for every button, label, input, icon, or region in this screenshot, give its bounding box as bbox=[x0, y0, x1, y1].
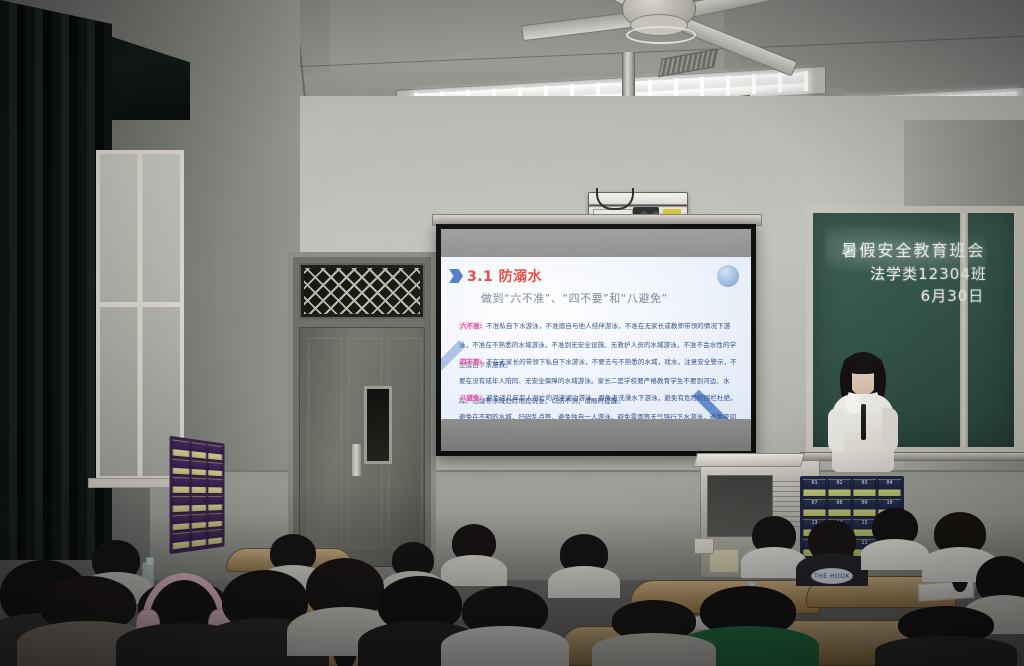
pocket-cell[interactable] bbox=[191, 478, 206, 494]
pocket-cell[interactable] bbox=[172, 532, 189, 550]
slide-subtitle: 做到“六不准”、“四不要”和“八避免” bbox=[481, 290, 668, 306]
slide-paragraph-tag: 八避免: bbox=[459, 394, 483, 402]
door-transom bbox=[299, 263, 425, 319]
slide-paragraph-tag: 六不准: bbox=[459, 322, 483, 330]
pocket-number: 10 bbox=[886, 500, 892, 508]
pocket-cell[interactable]: 04 bbox=[878, 479, 901, 497]
pocket-cell[interactable] bbox=[208, 496, 222, 511]
pocket-cell[interactable] bbox=[208, 529, 222, 546]
pocket-cell[interactable]: 08 bbox=[828, 499, 851, 517]
pocket-cell[interactable] bbox=[172, 477, 189, 494]
pocket-cell[interactable] bbox=[208, 479, 222, 494]
pocket-cell[interactable] bbox=[172, 514, 189, 532]
slide-paragraph-body: 避免近几年有人溺亡的河流湖泊游泳，避免老洗澡水下游泳，避免有危险的围栏杜绝，避免… bbox=[459, 394, 737, 419]
pocket-number: 09 bbox=[861, 500, 867, 508]
pocket-number: 03 bbox=[861, 480, 867, 488]
pocket-cell[interactable] bbox=[208, 461, 222, 477]
student: THE HOOK bbox=[808, 520, 856, 586]
slide-logo-icon bbox=[717, 265, 739, 287]
pocket-number: 02 bbox=[836, 480, 842, 488]
tshirt-logo: THE HOOK bbox=[811, 568, 853, 584]
door-panel bbox=[388, 338, 422, 548]
pocket-cell[interactable]: 07 bbox=[803, 499, 826, 517]
slide-paragraph: 八避免:避免近几年有人溺亡的河流湖泊游泳，避免老洗澡水下游泳，避免有危险的围栏杜… bbox=[459, 385, 737, 419]
pocket-cell[interactable] bbox=[208, 444, 222, 461]
student bbox=[898, 606, 994, 666]
presenter bbox=[828, 352, 898, 472]
blackboard-text: 暑假安全教育班会 法学类12304班 6月30日 bbox=[813, 239, 1014, 307]
student bbox=[560, 534, 608, 598]
pocket-cell[interactable] bbox=[172, 439, 189, 457]
slide-bullet-icon bbox=[449, 269, 463, 283]
pocket-cell[interactable]: 01 bbox=[803, 479, 826, 497]
pocket-cell[interactable] bbox=[191, 460, 206, 477]
pocket-number: 08 bbox=[836, 500, 842, 508]
blackboard-line-1: 暑假安全教育班会 bbox=[813, 239, 1014, 263]
lattice-grille-icon bbox=[304, 268, 420, 314]
screen-top-band bbox=[441, 229, 751, 257]
student bbox=[872, 508, 918, 570]
wall-socket[interactable] bbox=[694, 538, 714, 554]
pocket-cell[interactable]: 02 bbox=[828, 479, 851, 497]
pocket-number: 01 bbox=[811, 480, 817, 488]
student bbox=[752, 516, 796, 578]
pocket-cell[interactable]: 03 bbox=[853, 479, 876, 497]
student-shoulders bbox=[875, 636, 1017, 666]
pocket-cell[interactable] bbox=[191, 442, 206, 459]
pocket-number: 07 bbox=[811, 500, 817, 508]
slide-title: 3.1 防溺水 bbox=[467, 266, 542, 286]
ceiling-fan bbox=[560, 0, 790, 74]
student bbox=[612, 600, 696, 666]
presenter-sleeve bbox=[882, 408, 898, 452]
pocket-number: 04 bbox=[886, 480, 892, 488]
blackboard-line-3: 6月30日 bbox=[813, 285, 1014, 307]
door-leaf[interactable] bbox=[299, 327, 425, 567]
door-vision-panel bbox=[364, 386, 392, 464]
classroom-door[interactable] bbox=[288, 252, 436, 572]
pocket-cell[interactable] bbox=[172, 458, 189, 476]
projected-slide: 3.1 防溺水 做到“六不准”、“四不要”和“八避免” 六不准:不准私自下水游泳… bbox=[441, 257, 751, 419]
window bbox=[96, 150, 184, 480]
presenter-ribbon-tie bbox=[861, 404, 866, 440]
window-mullion bbox=[138, 154, 143, 476]
window-mullion bbox=[100, 302, 180, 307]
slide-paragraph-tag: 四不要: bbox=[459, 358, 483, 366]
door-handle[interactable] bbox=[352, 444, 361, 476]
screen-bottom-band bbox=[441, 419, 751, 451]
presenter-sleeve bbox=[828, 408, 844, 452]
phone-pocket-chart-left[interactable] bbox=[170, 436, 225, 554]
student-shoulders bbox=[548, 566, 619, 598]
pocket-cell[interactable] bbox=[172, 496, 189, 513]
pocket-cell[interactable] bbox=[191, 513, 206, 530]
pocket-cell[interactable] bbox=[191, 531, 206, 548]
pocket-cell[interactable] bbox=[191, 496, 206, 512]
pocket-number: 15 bbox=[861, 520, 867, 528]
student-shoulders bbox=[441, 626, 568, 666]
student bbox=[462, 586, 548, 666]
student-shoulders bbox=[592, 633, 716, 666]
projection-screen: 3.1 防溺水 做到“六不准”、“四不要”和“八避免” 六不准:不准私自下水游泳… bbox=[436, 224, 756, 456]
door-panel bbox=[308, 338, 342, 548]
fan-ring bbox=[626, 26, 696, 44]
blackboard-line-2: 法学类12304班 bbox=[813, 263, 1014, 285]
classroom-photo: 暑假安全教育班会 法学类12304班 6月30日 3.1 防溺水 做到“六不准”… bbox=[0, 0, 1024, 666]
student-shoulders bbox=[861, 539, 929, 570]
pocket-cell[interactable] bbox=[208, 513, 222, 529]
console-lid[interactable] bbox=[693, 453, 805, 467]
